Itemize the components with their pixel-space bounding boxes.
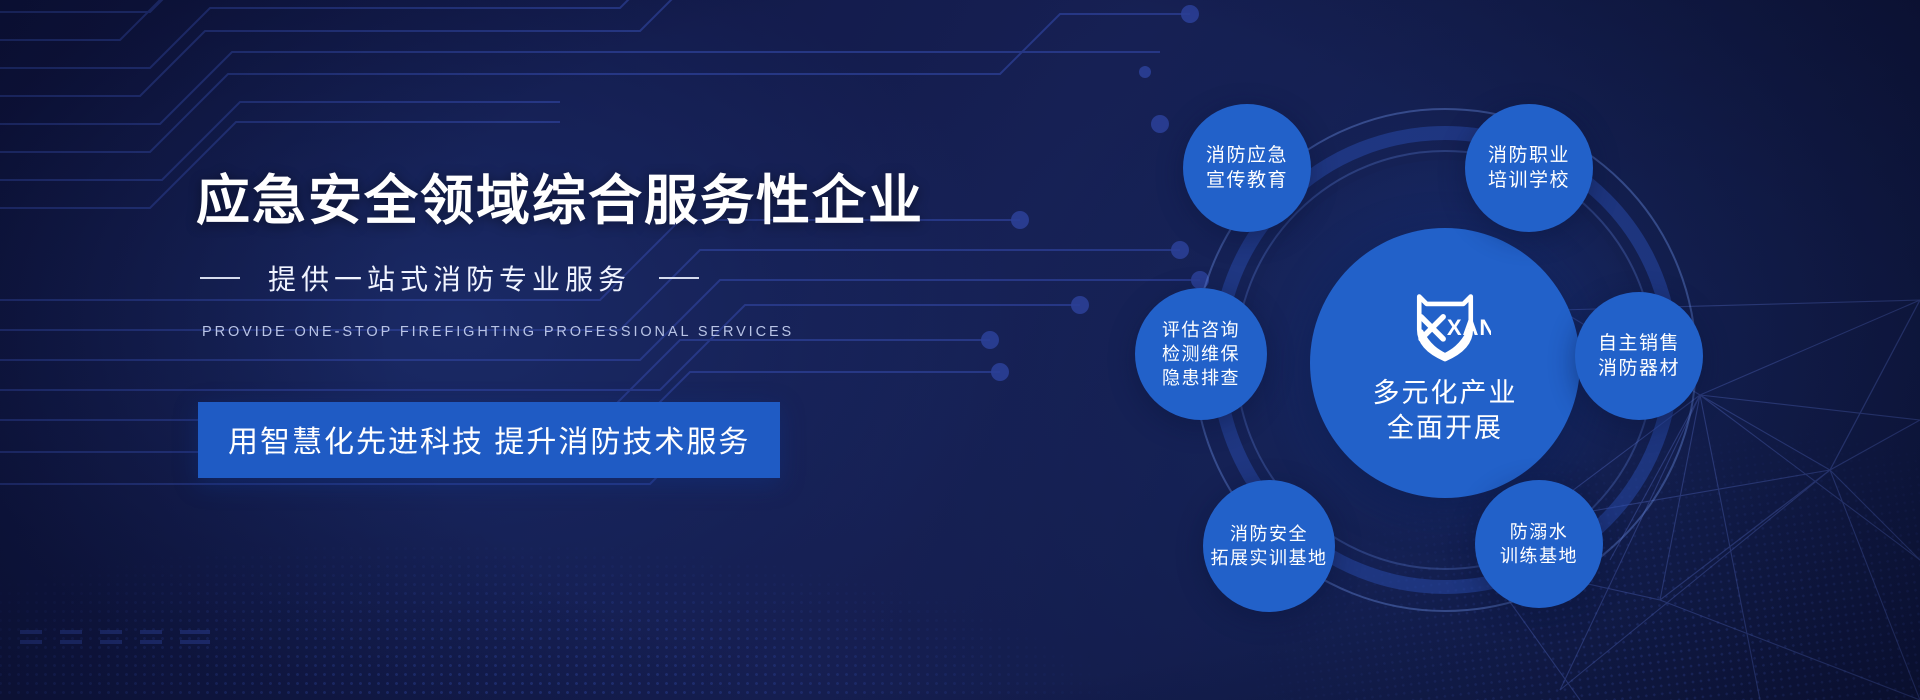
page-title: 应急安全领域综合服务性企业	[196, 170, 1036, 234]
hero-text-block: 应急安全领域综合服务性企业 提供一站式消防专业服务 PROVIDE ONE-ST…	[196, 170, 1036, 478]
shield-logo-icon: XAN	[1399, 280, 1491, 372]
rule-left	[200, 277, 240, 279]
node-line-3: 隐患排查	[1162, 366, 1240, 390]
services-diagram: XAN 多元化产业 全面开展 消防应急 宣传教育 消防职业 培训学校 评估咨询 …	[1135, 80, 1755, 640]
node-line-1: 消防应急	[1206, 143, 1288, 168]
node-line-2: 宣传教育	[1206, 168, 1288, 193]
node-vocational-training-school[interactable]: 消防职业 培训学校	[1465, 104, 1593, 232]
cta-banner-button[interactable]: 用智慧化先进科技 提升消防技术服务	[198, 402, 780, 478]
subtitle-row: 提供一站式消防专业服务	[200, 258, 1036, 298]
node-line-1: 消防安全	[1230, 522, 1308, 546]
node-line-1: 评估咨询	[1162, 318, 1240, 342]
node-assessment-inspection[interactable]: 评估咨询 检测维保 隐患排查	[1135, 288, 1267, 420]
center-line-2: 全面开展	[1387, 411, 1503, 446]
node-line-1: 消防职业	[1488, 143, 1570, 168]
node-line-1: 防溺水	[1510, 520, 1569, 544]
node-line-2: 培训学校	[1488, 168, 1570, 193]
hero-banner: 应急安全领域综合服务性企业 提供一站式消防专业服务 PROVIDE ONE-ST…	[0, 0, 1920, 700]
node-drowning-prevention-base[interactable]: 防溺水 训练基地	[1475, 480, 1603, 608]
node-safety-training-base[interactable]: 消防安全 拓展实训基地	[1203, 480, 1335, 612]
node-line-2: 拓展实训基地	[1211, 546, 1328, 570]
rule-right	[659, 277, 699, 279]
svg-text:XAN: XAN	[1447, 315, 1491, 340]
node-line-1: 自主销售	[1598, 331, 1680, 356]
center-line-1: 多元化产业	[1373, 376, 1518, 411]
page-subtitle: 提供一站式消防专业服务	[268, 258, 631, 298]
node-line-2: 训练基地	[1500, 544, 1578, 568]
node-fire-emergency-education[interactable]: 消防应急 宣传教育	[1183, 104, 1311, 232]
english-subtitle: PROVIDE ONE-STOP FIREFIGHTING PROFESSION…	[202, 324, 1036, 340]
node-line-2: 检测维保	[1162, 342, 1240, 366]
node-equipment-sales[interactable]: 自主销售 消防器材	[1575, 292, 1703, 420]
node-line-2: 消防器材	[1598, 356, 1680, 381]
center-node[interactable]: XAN 多元化产业 全面开展	[1310, 228, 1580, 498]
